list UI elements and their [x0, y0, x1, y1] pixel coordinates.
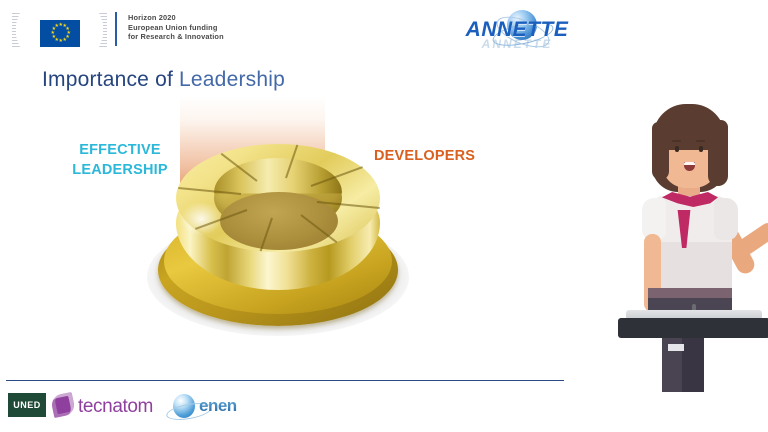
- tecnatom-logo-text: tecnatom: [78, 396, 153, 418]
- slide-header: ★★★★★★★★★★★★ Horizon 2020 European Union…: [0, 0, 768, 60]
- eye-left: [675, 146, 679, 152]
- annette-logo: ANNETTE ANNETTE: [462, 6, 572, 54]
- uned-logo: UNED: [8, 393, 46, 417]
- eyebrow-right: [696, 140, 705, 142]
- podium-plate: [668, 344, 684, 351]
- label-developers: DEVELOPERS: [374, 148, 475, 164]
- label-effective-leadership: EFFECTIVE LEADERSHIP: [60, 140, 180, 180]
- podium-body: [618, 318, 768, 338]
- label-effective-leadership-line1: EFFECTIVE: [60, 140, 180, 160]
- ring-highlight: [180, 202, 222, 236]
- hair-side-right: [708, 120, 728, 186]
- segmented-ring: [176, 144, 380, 304]
- raised-arm-forearm: [735, 220, 768, 258]
- eu-star-icon: ★: [51, 32, 54, 35]
- page-title: Importance of Leadership: [42, 68, 285, 92]
- page-title-light: Leadership: [179, 68, 285, 91]
- teeth: [684, 162, 695, 165]
- annette-logo-word: ANNETTE: [462, 18, 572, 42]
- page-title-strong: Importance of: [42, 68, 173, 91]
- sleeve-right: [714, 198, 738, 240]
- eye-right: [699, 146, 703, 152]
- eu-funding-text: Horizon 2020 European Union funding for …: [128, 13, 224, 42]
- hair-side-left: [652, 122, 669, 180]
- eu-star-icon: ★: [55, 25, 58, 28]
- podium-leg-right: [682, 338, 704, 392]
- footer-divider: [6, 380, 564, 381]
- cartoon-presenter: [600, 92, 768, 392]
- label-effective-leadership-line2: LEADERSHIP: [60, 160, 180, 180]
- eyebrow-left: [672, 140, 681, 142]
- eu-star-icon: ★: [52, 36, 55, 39]
- european-commission-logo: ★★★★★★★★★★★★: [12, 13, 107, 47]
- header-divider: [115, 12, 117, 46]
- presentation-slide: ★★★★★★★★★★★★ Horizon 2020 European Union…: [0, 0, 768, 432]
- eu-flag-icon: ★★★★★★★★★★★★: [40, 20, 80, 47]
- leadership-diagram: [140, 96, 410, 336]
- enen-logo-text: enen: [199, 396, 237, 416]
- tecnatom-mark-icon: [50, 392, 76, 418]
- uned-logo-text: UNED: [13, 400, 41, 410]
